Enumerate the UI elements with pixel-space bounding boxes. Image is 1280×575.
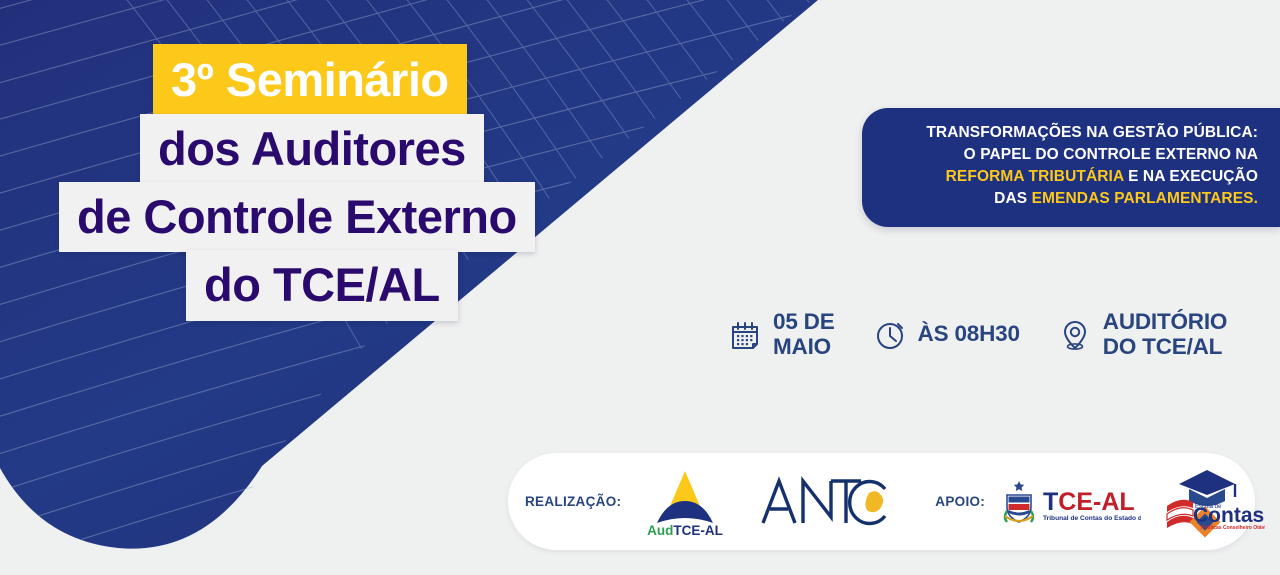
event-time: ÀS 08H30	[873, 318, 1020, 352]
svg-text:Públicas Conselheiro Otávio Le: Públicas Conselheiro Otávio Lemos	[1201, 525, 1265, 531]
subtitle-line-1: TRANSFORMAÇÕES NA GESTÃO PÚBLICA:	[884, 122, 1258, 144]
title-line-4: do TCE/AL	[186, 250, 458, 321]
event-place: AUDITÓRIO DO TCE/AL	[1058, 310, 1227, 360]
sponsor-bar: REALIZAÇÃO: AudTCE-AL	[508, 453, 1255, 550]
event-place-text: AUDITÓRIO DO TCE/AL	[1103, 310, 1227, 360]
antc-logo	[757, 471, 889, 533]
svg-text:Contas: Contas	[1193, 504, 1264, 527]
escola-de-contas-logo: Escola de Contas Públicas Conselheiro Ot…	[1161, 464, 1265, 540]
apoio-label: APOIO:	[935, 494, 985, 509]
realizacao-label: REALIZAÇÃO:	[525, 494, 621, 509]
subtitle-highlight-emendas: EMENDAS PARLAMENTARES.	[1032, 190, 1258, 207]
title-line-2: dos Auditores	[140, 114, 484, 184]
event-time-text: ÀS 08H30	[918, 322, 1020, 347]
audtce-al-logo: AudTCE-AL	[637, 465, 733, 539]
event-info-row: 05 DE MAIO ÀS 08H30 AUDITÓRIO DO TCE	[728, 310, 1227, 360]
subtitle-line-4-prefix: DAS	[994, 190, 1031, 207]
event-banner: 3º Seminário dos Auditores de Controle E…	[0, 0, 1280, 575]
subtitle-highlight-reforma: REFORMA TRIBUTÁRIA	[946, 168, 1124, 185]
subtitle-line-2: O PAPEL DO CONTROLE EXTERNO NA	[884, 144, 1258, 166]
subtitle-line-3: REFORMA TRIBUTÁRIA E NA EXECUÇÃO	[884, 166, 1258, 188]
tce-al-logo: TCE-AL Tribunal de Contas do Estado de A…	[1001, 471, 1141, 533]
event-date: 05 DE MAIO	[728, 310, 835, 360]
title-line-1: 3º Seminário	[153, 44, 467, 116]
svg-text:AudTCE-AL: AudTCE-AL	[647, 523, 723, 538]
map-pin-icon	[1058, 318, 1092, 352]
event-title: 3º Seminário dos Auditores de Controle E…	[0, 44, 620, 321]
title-line-3: de Controle Externo	[59, 182, 535, 252]
svg-text:TCE-AL: TCE-AL	[1043, 488, 1135, 516]
calendar-icon	[728, 318, 762, 352]
subtitle-panel: TRANSFORMAÇÕES NA GESTÃO PÚBLICA: O PAPE…	[862, 108, 1280, 227]
subtitle-line-3-rest: E NA EXECUÇÃO	[1124, 168, 1258, 185]
subtitle-line-4: DAS EMENDAS PARLAMENTARES.	[884, 188, 1258, 210]
event-date-text: 05 DE MAIO	[773, 310, 835, 360]
clock-icon	[873, 318, 907, 352]
svg-text:Tribunal de Contas do Estado d: Tribunal de Contas do Estado de Alagoas	[1043, 515, 1141, 522]
